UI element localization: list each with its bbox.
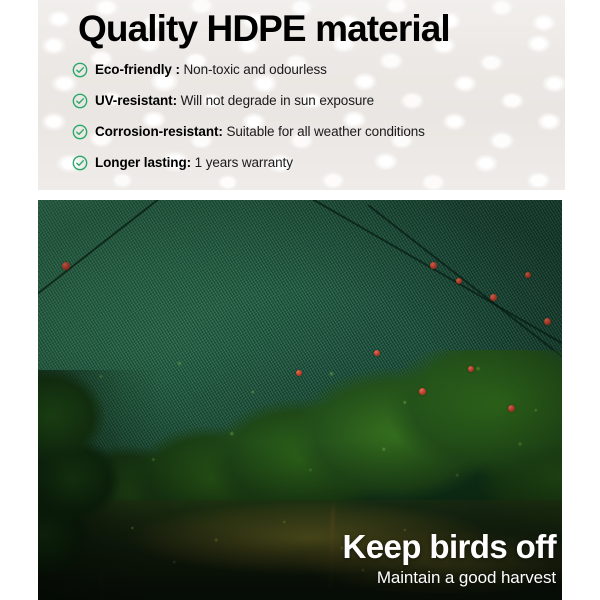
feature-label: Corrosion-resistant: bbox=[95, 124, 223, 139]
orchard-photo-panel: Keep birds off Maintain a good harvest bbox=[38, 200, 562, 600]
feature-text: UV-resistant: Will not degrade in sun ex… bbox=[95, 94, 374, 108]
top-copy-block: Quality HDPE material Eco-friendly : Non… bbox=[38, 0, 565, 190]
check-circle-icon bbox=[72, 93, 88, 109]
check-circle-icon bbox=[72, 155, 88, 171]
check-circle-icon bbox=[72, 62, 88, 78]
page-title: Quality HDPE material bbox=[78, 8, 450, 49]
hdpe-pellet-photo-panel: Quality HDPE material Eco-friendly : Non… bbox=[38, 0, 565, 190]
photo-headline: Keep birds off bbox=[343, 530, 556, 565]
feature-text: Corrosion-resistant: Suitable for all we… bbox=[95, 125, 425, 139]
photo-subheadline: Maintain a good harvest bbox=[343, 569, 556, 588]
feature-description: Will not degrade in sun exposure bbox=[181, 93, 374, 108]
feature-list: Eco-friendly : Non-toxic and odourless U… bbox=[72, 54, 542, 178]
check-circle-icon bbox=[72, 124, 88, 140]
feature-description: Non-toxic and odourless bbox=[184, 62, 327, 77]
feature-label: UV-resistant: bbox=[95, 93, 177, 108]
list-item: Eco-friendly : Non-toxic and odourless bbox=[72, 54, 542, 85]
photo-copy-block: Keep birds off Maintain a good harvest bbox=[343, 530, 556, 588]
list-item: Longer lasting: 1 years warranty bbox=[72, 147, 542, 178]
feature-text: Eco-friendly : Non-toxic and odourless bbox=[95, 63, 327, 77]
feature-label: Longer lasting: bbox=[95, 155, 191, 170]
product-feature-image: Quality HDPE material Eco-friendly : Non… bbox=[0, 0, 600, 600]
feature-description: Suitable for all weather conditions bbox=[226, 124, 424, 139]
list-item: Corrosion-resistant: Suitable for all we… bbox=[72, 116, 542, 147]
feature-text: Longer lasting: 1 years warranty bbox=[95, 156, 293, 170]
feature-description: 1 years warranty bbox=[195, 155, 293, 170]
list-item: UV-resistant: Will not degrade in sun ex… bbox=[72, 85, 542, 116]
feature-label: Eco-friendly : bbox=[95, 62, 180, 77]
